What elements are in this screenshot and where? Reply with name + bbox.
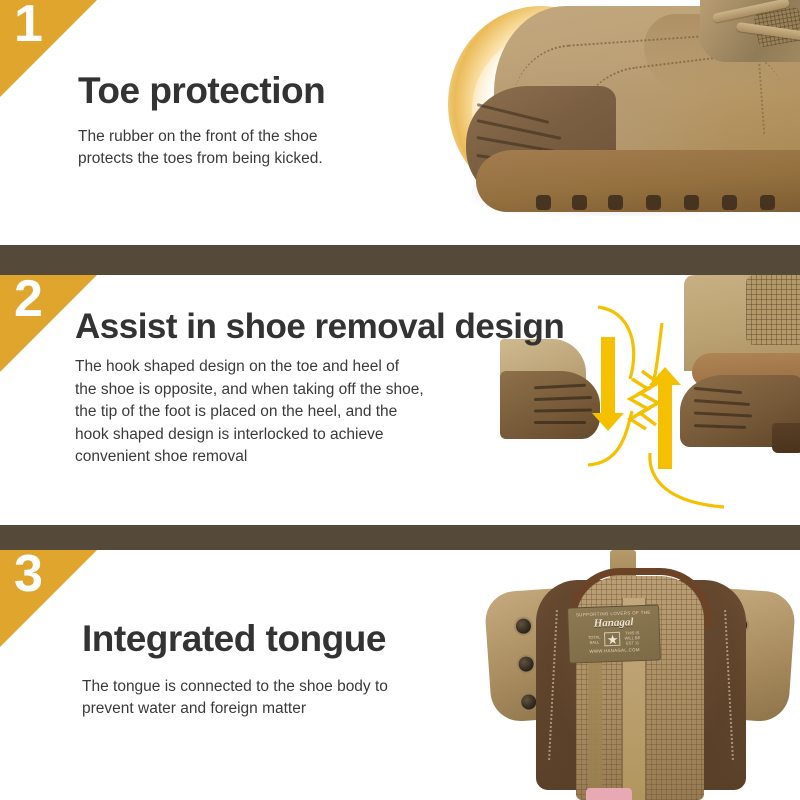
section-badge-3: 3 — [0, 550, 97, 647]
label-url: WWW.HANAGAL.COM — [570, 646, 660, 654]
outsole-lug — [608, 195, 623, 210]
lace-eyelet — [521, 694, 537, 710]
feature-text-1: Toe protection The rubber on the front o… — [78, 70, 325, 170]
zigzag-icon — [630, 371, 658, 429]
badge-number: 2 — [14, 275, 42, 325]
feature-section-3: SUPPORTING LOVERS OF THE Hanagal TOTAL B… — [0, 550, 800, 800]
boot-insole-edge — [586, 788, 632, 800]
section-badge-2: 2 — [0, 275, 97, 372]
arrow-up-icon — [649, 367, 681, 469]
feature-heading-1: Toe protection — [78, 70, 325, 112]
badge-number: 3 — [14, 550, 42, 600]
lace-eyelet — [518, 656, 534, 672]
feature-body-2: The hook shaped design on the toe and he… — [75, 356, 564, 469]
boot-interior-photo: SUPPORTING LOVERS OF THE Hanagal TOTAL B… — [480, 550, 800, 800]
body-line: the tip of the foot is placed on the hee… — [75, 401, 564, 424]
feature-section-1: 1 Toe protection The rubber on the front… — [0, 0, 800, 245]
lace-eyelet — [515, 618, 531, 634]
feature-text-2: Assist in shoe removal design The hook s… — [75, 307, 564, 469]
body-line: protects the toes from being kicked. — [78, 148, 325, 170]
outsole-lug — [760, 195, 775, 210]
feature-heading-2: Assist in shoe removal design — [75, 307, 564, 346]
feature-body-1: The rubber on the front of the shoe prot… — [78, 126, 325, 170]
feature-section-2: 2 Assist in shoe removal design The hook… — [0, 275, 800, 525]
feature-body-3: The tongue is connected to the shoe body… — [82, 676, 388, 720]
brand-label: SUPPORTING LOVERS OF THE Hanagal TOTAL B… — [567, 604, 661, 663]
body-line: prevent water and foreign matter — [82, 698, 388, 720]
heading-line: removal design — [315, 307, 565, 346]
outsole-lug — [722, 195, 737, 210]
star-icon: ★ — [604, 631, 620, 646]
section-divider-2 — [0, 525, 800, 550]
body-line: The tongue is connected to the shoe body… — [82, 676, 388, 698]
feature-heading-3: Integrated tongue — [82, 618, 388, 660]
label-right-small: THIS IS WILL BE EST 11 — [624, 630, 640, 646]
outsole-lug — [646, 195, 661, 210]
heading-line: Assist in shoe — [75, 307, 305, 346]
outsole-lug — [684, 195, 699, 210]
outsole-lug — [536, 195, 551, 210]
boot-outsole — [476, 150, 800, 212]
arrow-down-icon — [592, 337, 624, 431]
infographic-page: 1 Toe protection The rubber on the front… — [0, 0, 800, 800]
label-left-small: TOTAL BALL — [588, 634, 601, 644]
body-line: The rubber on the front of the shoe — [78, 126, 325, 148]
body-line: The hook shaped design on the toe and he… — [75, 356, 564, 379]
boot-toe-photo — [420, 0, 800, 245]
badge-number: 1 — [14, 0, 42, 50]
section-badge-1: 1 — [0, 0, 97, 97]
label-brand-name: Hanagal — [568, 615, 658, 630]
feature-text-3: Integrated tongue The tongue is connecte… — [82, 618, 388, 720]
outsole-lug — [572, 195, 587, 210]
label-small-text: BALL — [588, 639, 601, 644]
body-line: the shoe is opposite, and when taking of… — [75, 379, 564, 402]
body-line: convenient shoe removal — [75, 446, 564, 469]
label-middle-row: TOTAL BALL ★ THIS IS WILL BE EST 11 — [569, 629, 659, 647]
body-line: hook shaped design is interlocked to ach… — [75, 424, 564, 447]
section-divider-1 — [0, 245, 800, 275]
label-small-text: EST 11 — [625, 640, 641, 646]
